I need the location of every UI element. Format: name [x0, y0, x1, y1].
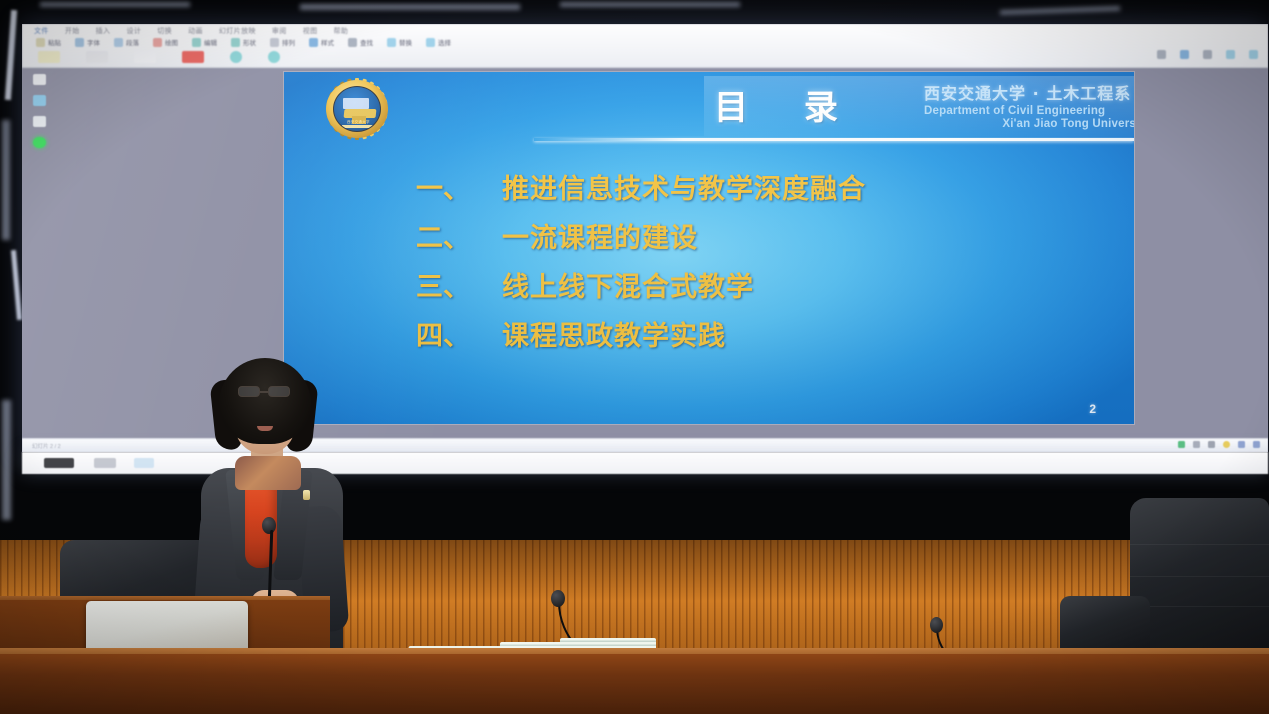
- presenter-hair: [219, 358, 311, 444]
- screen-glare: [5, 10, 17, 100]
- ribbon-group-replace[interactable]: 替换: [387, 37, 412, 47]
- drawing-icon: [153, 38, 162, 47]
- university-name-cn: 西安交通大学 · 土木工程系: [924, 80, 1134, 104]
- shape-outline-button[interactable]: [268, 51, 280, 63]
- status-icon-group[interactable]: [1178, 441, 1260, 448]
- ribbon-tab-transitions[interactable]: 切换: [157, 26, 172, 36]
- screen-glare: [11, 250, 22, 320]
- ribbon-group-label: 选择: [438, 37, 451, 47]
- paste-icon: [36, 38, 45, 47]
- ribbon-group-label: 粘贴: [48, 37, 61, 47]
- toc-label: 课程思政教学实践: [502, 323, 726, 350]
- ribbon-group-label: 形状: [243, 37, 256, 47]
- select-tool-icon[interactable]: [1249, 50, 1258, 59]
- ribbon-tab-insert[interactable]: 插入: [96, 26, 111, 36]
- ribbon-group-select[interactable]: 选择: [426, 37, 451, 47]
- new-slide-icon[interactable]: [33, 95, 46, 106]
- note-icon[interactable]: [33, 116, 46, 127]
- handheld-microphone-head: [262, 517, 276, 534]
- quick-styles-icon[interactable]: [1180, 50, 1189, 59]
- ribbon-right-tools[interactable]: [1157, 50, 1258, 59]
- cursor-icon[interactable]: [33, 74, 46, 85]
- ribbon-tab-design[interactable]: 设计: [126, 26, 141, 36]
- emblem-base-bar: [342, 125, 378, 128]
- shapes-icon: [231, 38, 240, 47]
- scarf-knot: [235, 456, 301, 490]
- glasses-bridge: [260, 391, 268, 393]
- toc-number: 二、: [416, 225, 502, 252]
- toc-number: 三、: [416, 274, 502, 301]
- format-painter-button[interactable]: [86, 51, 108, 63]
- ribbon-group-label: 编辑: [204, 37, 217, 47]
- executive-chair: [1130, 498, 1269, 663]
- replace-icon: [387, 38, 396, 47]
- select-icon: [426, 38, 435, 47]
- screenshot-root: 文件 开始 插入 设计 切换 动画 幻灯片放映 审阅 视图 帮助 粘贴 字体: [0, 0, 1269, 714]
- ribbon-group-label: 排列: [282, 37, 295, 47]
- slide-page-number: 2: [1089, 402, 1096, 416]
- ribbon-group-label: 查找: [360, 37, 373, 47]
- laser-pointer-icon[interactable]: [33, 137, 46, 148]
- ribbon-tab-review[interactable]: 审阅: [272, 26, 287, 36]
- ribbon-group-label: 字体: [87, 37, 100, 47]
- ribbon-tab-help[interactable]: 帮助: [334, 26, 349, 36]
- lapel-badge: [303, 490, 310, 500]
- toc-label: 一流课程的建设: [502, 225, 698, 252]
- paragraph-icon: [114, 38, 123, 47]
- ribbon-group-shapes[interactable]: 形状: [231, 37, 256, 47]
- university-name-en: Xi'an Jiao Tong University: [924, 118, 1134, 130]
- search-icon: [348, 38, 357, 47]
- list-item: 四、 课程思政教学实践: [416, 323, 1116, 350]
- ribbon-tab-home[interactable]: 开始: [65, 26, 80, 36]
- font-icon: [75, 38, 84, 47]
- record-button[interactable]: [182, 51, 204, 63]
- university-banner: 西安交通大学 · 土木工程系 Department of Civil Engin…: [924, 80, 1134, 130]
- sorter-view-icon[interactable]: [1193, 441, 1200, 448]
- ribbon-group-paste[interactable]: 粘贴: [36, 37, 61, 47]
- start-button[interactable]: [44, 458, 74, 468]
- ribbon-tab-view[interactable]: 视图: [303, 26, 318, 36]
- arrange-tool-icon[interactable]: [1157, 50, 1166, 59]
- zoom-in-icon[interactable]: [1253, 441, 1260, 448]
- toc-label: 推进信息技术与教学深度融合: [502, 176, 866, 203]
- xjtu-emblem-icon: 西安交通大学: [326, 80, 388, 138]
- slide-title: 目 录: [714, 80, 914, 129]
- new-slide-button[interactable]: [134, 51, 156, 63]
- ribbon-group-arrange[interactable]: 排列: [270, 37, 295, 47]
- toc-label: 线上线下混合式教学: [502, 274, 754, 301]
- browser-icon[interactable]: [134, 458, 154, 468]
- ribbon-command-row[interactable]: [38, 51, 280, 63]
- ribbon-group-find[interactable]: 查找: [348, 37, 373, 47]
- shape-fill-button[interactable]: [230, 51, 242, 63]
- list-item: 三、 线上线下混合式教学: [416, 274, 1116, 301]
- toc-number: 四、: [416, 323, 502, 350]
- zoom-out-icon[interactable]: [1238, 441, 1245, 448]
- screen-glare: [560, 2, 740, 7]
- screen-glare: [300, 4, 520, 10]
- ribbon-group-label: 替换: [399, 37, 412, 47]
- explorer-icon[interactable]: [94, 458, 116, 468]
- ribbon-group-label: 绘图: [165, 37, 178, 47]
- toc-number: 一、: [416, 176, 502, 203]
- screen-glare: [2, 120, 10, 240]
- ribbon-tab-animations[interactable]: 动画: [188, 26, 203, 36]
- ribbon-group-label: 段落: [126, 37, 139, 47]
- slide-panel-toolbar[interactable]: [28, 74, 50, 148]
- emblem-inscription: 西安交通大学: [347, 120, 370, 125]
- styles-icon: [309, 38, 318, 47]
- list-item: 一、 推进信息技术与教学深度融合: [416, 176, 1116, 203]
- ribbon-group-drawing[interactable]: 绘图: [153, 37, 178, 47]
- screen-glare: [2, 400, 11, 520]
- ribbon-bar[interactable]: 文件 开始 插入 设计 切换 动画 幻灯片放映 审阅 视图 帮助 粘贴 字体: [22, 24, 1268, 68]
- front-desk: [0, 654, 1269, 714]
- screen-glare: [40, 2, 190, 7]
- status-text: 幻灯片 2 / 2: [32, 442, 61, 450]
- ribbon-tab-file[interactable]: 文件: [34, 26, 49, 36]
- book-shape: [343, 98, 369, 109]
- header-underline: [534, 138, 1134, 141]
- reading-view-icon[interactable]: [1208, 441, 1215, 448]
- department-name-en: Department of Civil Engineering: [924, 105, 1134, 117]
- ribbon-group-label: 样式: [321, 37, 334, 47]
- presenter-mouth: [257, 426, 273, 431]
- slide-canvas[interactable]: 西安交通大学 目 录 西安交通大学 · 土木工程系 Department of …: [284, 72, 1134, 424]
- arrange-icon: [270, 38, 279, 47]
- gooseneck-microphone-head: [930, 617, 943, 633]
- ribbon-tab-slideshow[interactable]: 幻灯片放映: [219, 26, 256, 36]
- editing-icon: [192, 38, 201, 47]
- ribbon-group-styles[interactable]: 样式: [309, 37, 334, 47]
- ribbon-group-font[interactable]: 字体: [75, 37, 100, 47]
- slideshow-icon[interactable]: [1223, 441, 1230, 448]
- table-of-contents: 一、 推进信息技术与教学深度融合 二、 一流课程的建设 三、 线上线下混合式教学…: [416, 176, 1116, 372]
- glasses-lens-left: [238, 386, 260, 397]
- list-item: 二、 一流课程的建设: [416, 225, 1116, 252]
- find-tool-icon[interactable]: [1203, 50, 1212, 59]
- screen-glare: [1000, 6, 1120, 15]
- paste-button[interactable]: [38, 51, 60, 63]
- gooseneck-microphone-head: [551, 590, 565, 607]
- glasses-lens-right: [268, 386, 290, 397]
- ribbon-tab-list[interactable]: 文件 开始 插入 设计 切换 动画 幻灯片放映 审阅 视图 帮助: [34, 26, 348, 36]
- normal-view-icon[interactable]: [1178, 441, 1185, 448]
- replace-tool-icon[interactable]: [1226, 50, 1235, 59]
- ribbon-group-editing[interactable]: 编辑: [192, 37, 217, 47]
- emblem-inner: 西安交通大学: [333, 86, 381, 132]
- ribbon-group-paragraph[interactable]: 段落: [114, 37, 139, 47]
- ribbon-group-row[interactable]: 粘贴 字体 段落 绘图 编辑: [36, 37, 451, 47]
